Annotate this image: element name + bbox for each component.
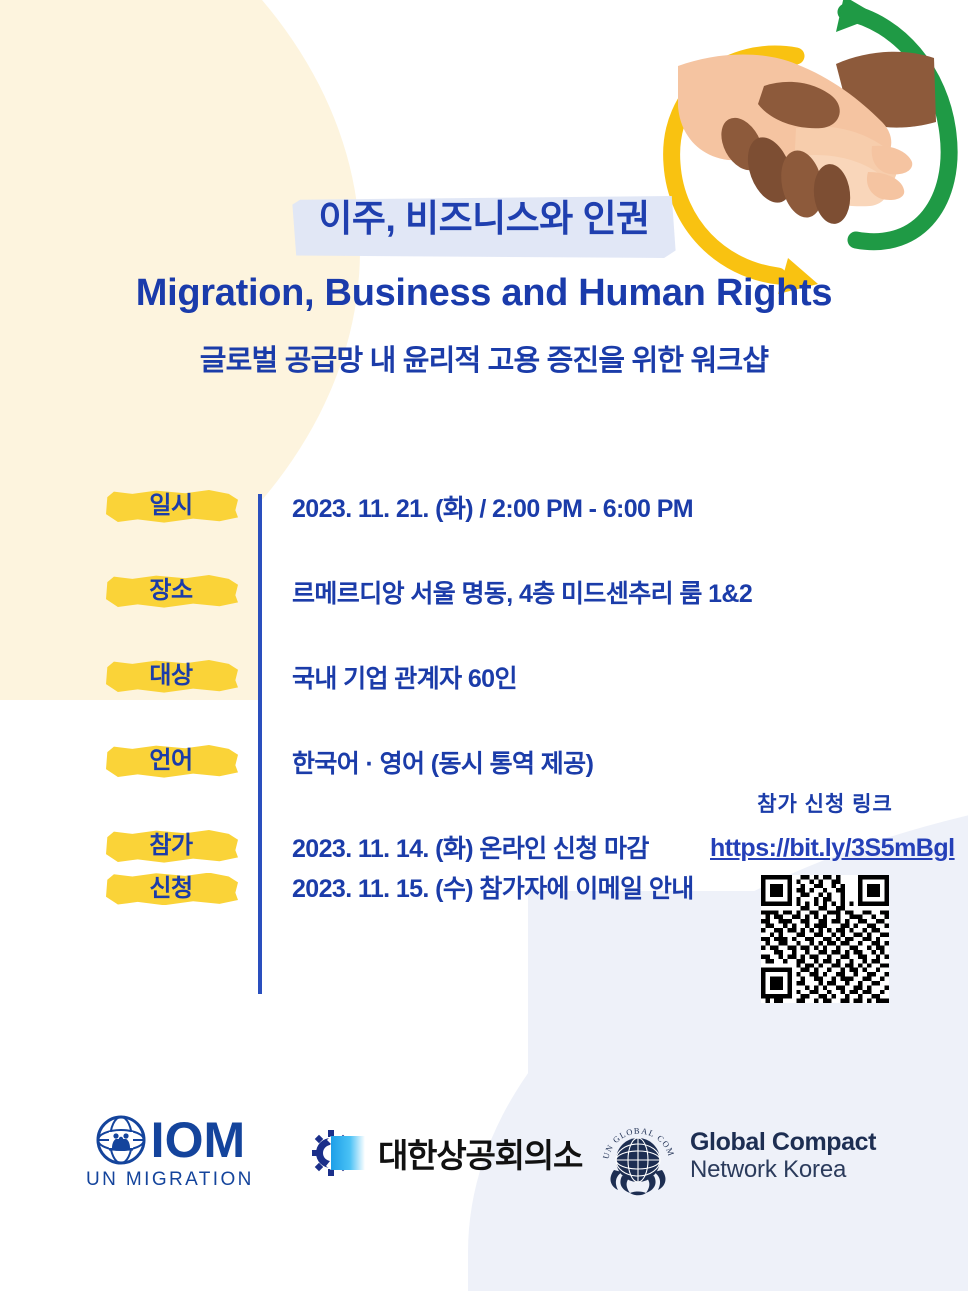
vertical-divider	[258, 494, 262, 994]
registration-qr-code[interactable]	[761, 875, 889, 1003]
value-column: 2023. 11. 14. (화) 온라인 신청 마감 2023. 11. 15…	[258, 828, 694, 909]
detail-label-language: 언어	[110, 743, 232, 780]
korean-title: 이주, 비즈니스와 인권	[318, 198, 649, 239]
detail-row-venue: 장소 르메르디앙 서울 명동, 4층 미드센추리 룸 1&2	[110, 573, 810, 614]
label-column: 일시	[110, 488, 258, 525]
iom-logo-row: IOM	[95, 1114, 245, 1166]
detail-value-registration-deadline: 2023. 11. 14. (화) 온라인 신청 마감	[292, 829, 694, 869]
detail-value-venue: 르메르디앙 서울 명동, 4층 미드센추리 룸 1&2	[292, 574, 752, 614]
detail-row-date: 일시 2023. 11. 21. (화) / 2:00 PM - 6:00 PM	[110, 488, 810, 529]
iom-wordmark: IOM	[151, 1115, 245, 1165]
detail-value-language: 한국어 · 영어 (동시 통역 제공)	[292, 744, 593, 784]
detail-label-registration-line1: 참가	[110, 828, 232, 865]
value-column: 2023. 11. 21. (화) / 2:00 PM - 6:00 PM	[258, 488, 693, 529]
detail-row-language: 언어 한국어 · 영어 (동시 통역 제공)	[110, 743, 810, 784]
partner-logos: IOM UN MIGRATION	[0, 1104, 968, 1214]
detail-label-venue: 장소	[110, 573, 232, 610]
registration-link-title: 참가 신청 링크	[710, 788, 940, 818]
un-global-compact-emblem-icon: UN GLOBAL COMPACT	[596, 1114, 680, 1198]
label-column: 장소	[110, 573, 258, 610]
detail-row-registration: 참가 신청 2023. 11. 14. (화) 온라인 신청 마감 2023. …	[110, 828, 810, 909]
registration-block: 참가 신청 링크 https://bit.ly/3S5mBgl	[710, 788, 940, 1003]
label-column: 참가 신청	[110, 828, 258, 907]
detail-label-date: 일시	[110, 488, 232, 525]
korean-subtitle: 글로벌 공급망 내 윤리적 고용 증진을 위한 워크샵	[0, 337, 968, 379]
logo-gcnk: UN GLOBAL COMPACT Global Compact N	[596, 1114, 876, 1198]
label-column: 대상	[110, 658, 258, 695]
detail-value-audience: 국내 기업 관계자 60인	[292, 659, 517, 699]
gcnk-line-2: Network Korea	[690, 1157, 876, 1183]
value-column: 르메르디앙 서울 명동, 4층 미드센추리 룸 1&2	[258, 573, 752, 614]
value-column: 국내 기업 관계자 60인	[258, 658, 517, 699]
detail-label-audience: 대상	[110, 658, 232, 695]
detail-label-registration-line2: 신청	[110, 871, 232, 908]
gcnk-line-1: Global Compact	[690, 1129, 876, 1157]
logo-iom: IOM UN MIGRATION	[86, 1114, 254, 1191]
kcci-wordmark: 대한상공회의소	[378, 1129, 582, 1177]
registration-url-link[interactable]: https://bit.ly/3S5mBgl	[710, 834, 940, 863]
poster-canvas: 이주, 비즈니스와 인권 Migration, Business and Hum…	[0, 0, 968, 1291]
value-column: 한국어 · 영어 (동시 통역 제공)	[258, 743, 593, 784]
label-column: 언어	[110, 743, 258, 780]
iom-globe-icon	[95, 1114, 147, 1166]
kcci-gear-icon	[312, 1128, 370, 1178]
detail-row-audience: 대상 국내 기업 관계자 60인	[110, 658, 810, 699]
detail-value-date: 2023. 11. 21. (화) / 2:00 PM - 6:00 PM	[292, 489, 693, 529]
iom-tagline: UN MIGRATION	[86, 1169, 254, 1191]
korean-title-badge: 이주, 비즈니스와 인권	[292, 190, 675, 252]
detail-value-registration-email: 2023. 11. 15. (수) 참가자에 이메일 안내	[292, 869, 694, 909]
gcnk-wordmark: Global Compact Network Korea	[690, 1129, 876, 1183]
english-title: Migration, Business and Human Rights	[0, 272, 968, 315]
title-block: 이주, 비즈니스와 인권 Migration, Business and Hum…	[0, 190, 968, 379]
event-details: 일시 2023. 11. 21. (화) / 2:00 PM - 6:00 PM…	[110, 488, 810, 909]
logo-kcci: 대한상공회의소	[312, 1128, 582, 1178]
